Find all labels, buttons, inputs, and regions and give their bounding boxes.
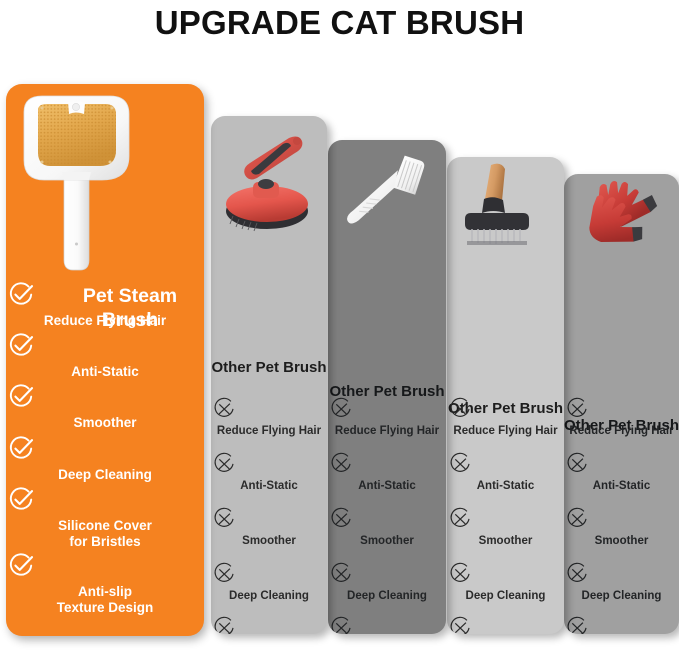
feature-row: Deep Cleaning	[211, 561, 327, 604]
cross-circle-icon	[564, 561, 679, 587]
feature-row: Deep Cleaning	[6, 434, 204, 483]
feature-row: Deep Cleaning	[447, 561, 564, 604]
feature-row: Anti-Static	[211, 451, 327, 494]
check-circle-icon	[6, 485, 204, 515]
cross-circle-icon	[211, 506, 327, 532]
cross-circle-icon	[211, 615, 327, 634]
feature-label: Anti-Static	[211, 480, 327, 494]
feature-label: Reduce Flying Hair	[328, 425, 446, 439]
white-comb-image	[328, 140, 446, 240]
feature-label: Deep Cleaning	[211, 590, 327, 604]
feature-row: Anti-Static	[447, 451, 564, 494]
feature-row: Anti-Static	[6, 331, 204, 380]
product-name: Other Pet Brush	[211, 359, 327, 376]
feature-row: Silicone Cover for Bristles	[328, 615, 446, 634]
cross-circle-icon	[328, 506, 446, 532]
feature-label: Deep Cleaning	[447, 590, 564, 604]
cross-circle-icon	[328, 396, 446, 422]
product-column-pet-steam-brush[interactable]: Pet Steam Brush Reduce Flying Hair Anti-…	[6, 84, 204, 636]
feature-row: Smoother	[328, 506, 446, 549]
feature-label: Deep Cleaning	[328, 590, 446, 604]
cross-circle-icon	[447, 561, 564, 587]
check-circle-icon	[6, 331, 204, 361]
feature-row: Anti-Static	[328, 451, 446, 494]
feature-row: Smoother	[447, 506, 564, 549]
feature-label: Anti-Static	[447, 480, 564, 494]
cross-circle-icon	[328, 561, 446, 587]
feature-label: Anti-Static	[564, 480, 679, 494]
feature-row: Reduce Flying Hair	[447, 396, 564, 439]
feature-row: Reduce Flying Hair	[328, 396, 446, 439]
check-circle-icon	[6, 382, 204, 412]
check-circle-icon	[6, 280, 204, 310]
cross-circle-icon	[564, 506, 679, 532]
feature-label: Smoother	[564, 535, 679, 549]
feature-label: Anti-slip Texture Design	[6, 584, 204, 616]
product-column-other-3[interactable]: Other Pet Brush Reduce Flying Hair Anti	[447, 157, 564, 634]
cross-circle-icon	[447, 451, 564, 477]
dematting-rake-image	[447, 157, 564, 245]
feature-row: Silicone Cover for Bristles	[564, 615, 679, 634]
feature-row: Reduce Flying Hair	[211, 396, 327, 439]
feature-label: Deep Cleaning	[6, 467, 204, 483]
feature-label: Reduce Flying Hair	[447, 425, 564, 439]
cross-circle-icon	[447, 506, 564, 532]
cross-circle-icon	[447, 396, 564, 422]
cross-circle-icon	[328, 615, 446, 634]
feature-row: Anti-Static	[564, 451, 679, 494]
cross-circle-icon	[211, 396, 327, 422]
feature-row: Deep Cleaning	[564, 561, 679, 604]
cross-circle-icon	[564, 451, 679, 477]
feature-label: Smoother	[328, 535, 446, 549]
check-circle-icon	[6, 434, 204, 464]
feature-row: Silicone Cover for Bristles	[447, 615, 564, 634]
feature-row: Anti-slip Texture Design	[6, 551, 204, 616]
grooming-gloves-image	[564, 174, 679, 246]
feature-label: Smoother	[447, 535, 564, 549]
feature-label: Anti-Static	[6, 364, 204, 380]
check-circle-icon	[6, 551, 204, 581]
feature-label: Reduce Flying Hair	[6, 313, 204, 329]
feature-label: Smoother	[6, 415, 204, 431]
product-column-other-1[interactable]: Other Pet Brush Reduce Flying Hair Anti	[211, 116, 327, 634]
feature-label: Deep Cleaning	[564, 590, 679, 604]
feature-row: Reduce Flying Hair	[6, 280, 204, 329]
feature-label: Silicone Cover for Bristles	[6, 518, 204, 550]
feature-row: Smoother	[6, 382, 204, 431]
feature-row: Silicone Cover for Bristles	[6, 485, 204, 550]
feature-row: Deep Cleaning	[328, 561, 446, 604]
cross-circle-icon	[211, 451, 327, 477]
red-slicker-brush-image	[211, 116, 327, 236]
feature-row: Reduce Flying Hair	[564, 396, 679, 439]
feature-row: Silicone Cover for Bristles	[211, 615, 327, 634]
pet-steam-brush-image	[6, 84, 204, 279]
product-column-other-4[interactable]: Other Pet Brush Reduce Flying Hair Anti	[564, 174, 679, 634]
cross-circle-icon	[328, 451, 446, 477]
product-column-other-2[interactable]: Other Pet Brush Reduce Flying Hair Anti	[328, 140, 446, 634]
feature-label: Anti-Static	[328, 480, 446, 494]
cross-circle-icon	[447, 615, 564, 634]
page-title: UPGRADE CAT BRUSH	[0, 0, 679, 46]
feature-row: Smoother	[564, 506, 679, 549]
cross-circle-icon	[564, 615, 679, 634]
cross-circle-icon	[211, 561, 327, 587]
feature-row: Smoother	[211, 506, 327, 549]
feature-label: Reduce Flying Hair	[564, 425, 679, 439]
feature-label: Smoother	[211, 535, 327, 549]
feature-label: Reduce Flying Hair	[211, 425, 327, 439]
cross-circle-icon	[564, 396, 679, 422]
